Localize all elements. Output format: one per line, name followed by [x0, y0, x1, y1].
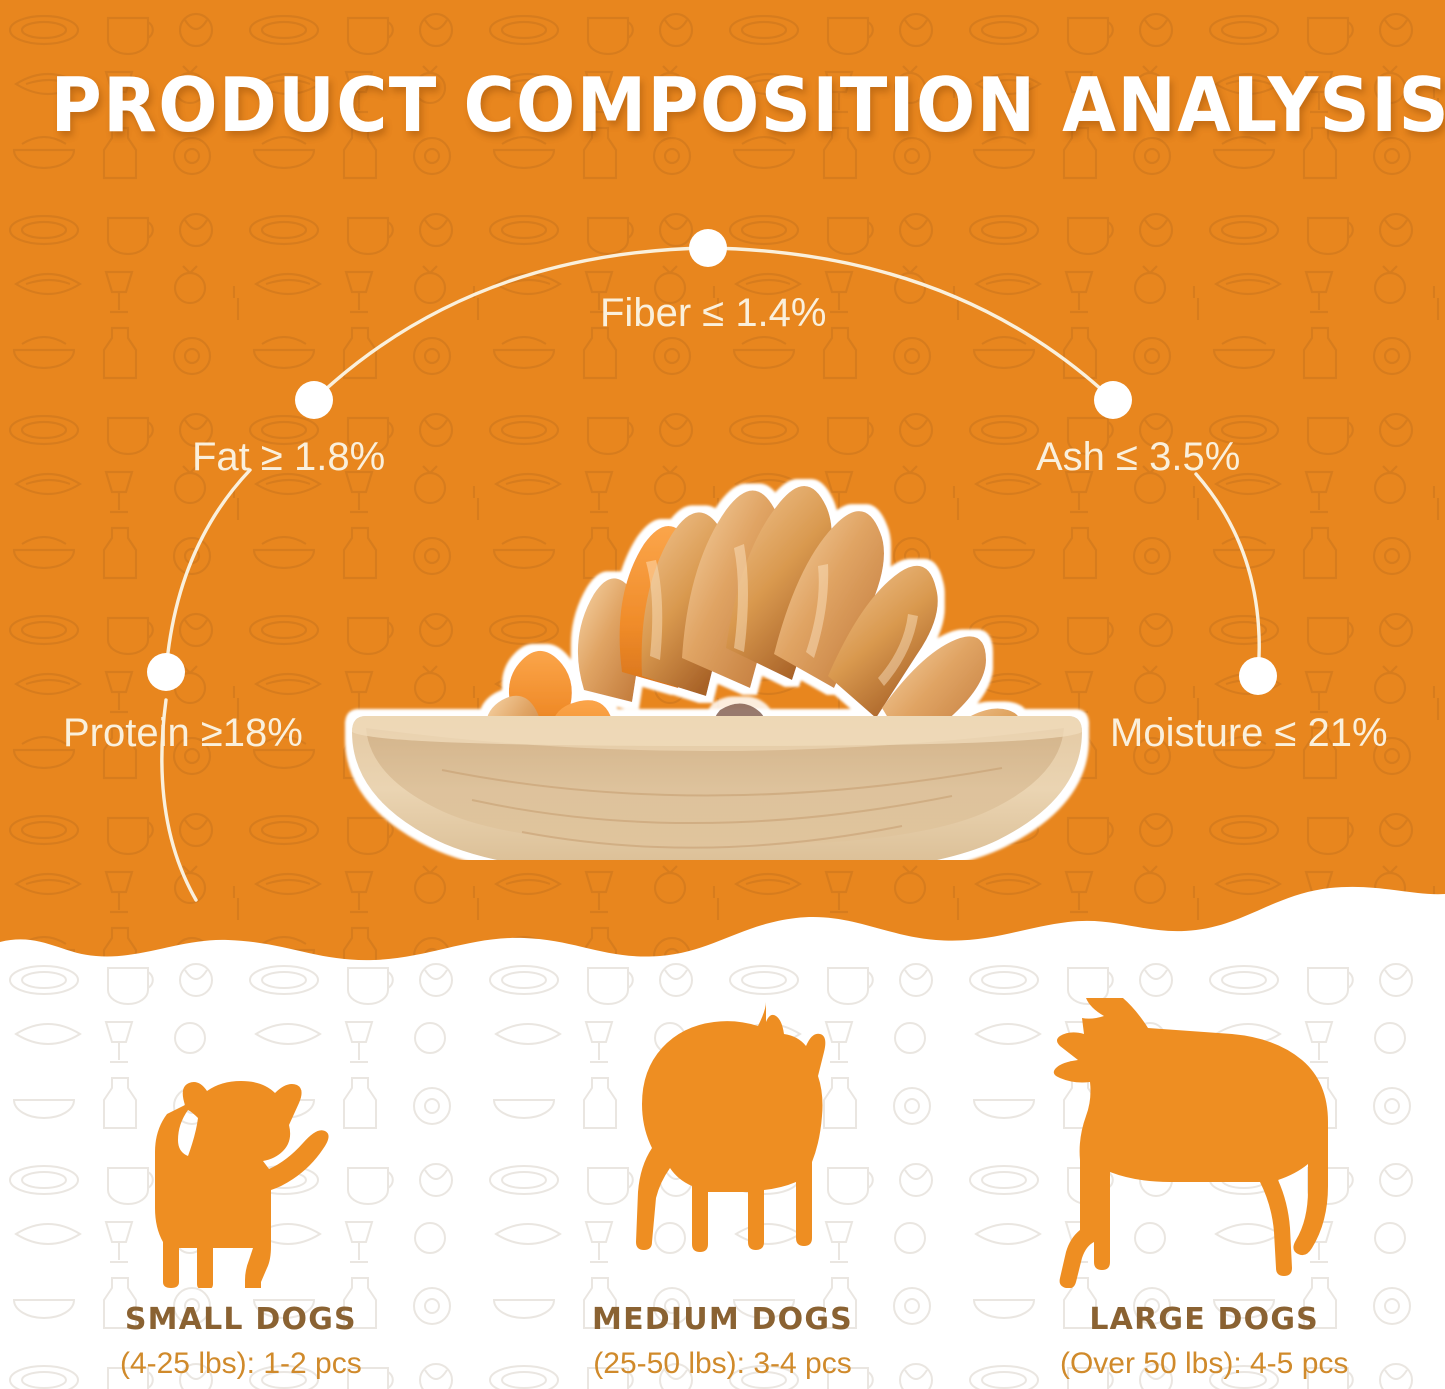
feeding-guide-detail-small: (4-25 lbs): 1-2 pcs	[120, 1347, 362, 1381]
large-dog-silhouette	[1044, 988, 1364, 1288]
connector-protein-fat	[166, 470, 250, 672]
feeding-guide-column-medium: MEDIUM DOGS (25-50 lbs): 3-4 pcs	[482, 965, 964, 1389]
feeding-guide-section: SMALL DOGS (4-25 lbs): 1-2 pcs MEDIUM DO…	[0, 965, 1445, 1389]
feeding-guide-column-small: SMALL DOGS (4-25 lbs): 1-2 pcs	[0, 965, 482, 1389]
small-dog-silhouette	[126, 988, 356, 1288]
feeding-guide-title-medium: MEDIUM DOGS	[592, 1302, 853, 1337]
infographic-page: PRODUCT COMPOSITION ANALYSIS Fat ≥ 1.8% …	[0, 0, 1445, 1389]
connector-ash-moisture	[1196, 474, 1259, 676]
feeding-guide-detail-large: (Over 50 lbs): 4-5 pcs	[1060, 1347, 1348, 1381]
dot-moisture	[1239, 657, 1277, 695]
callout-label-moisture: Moisture ≤ 21%	[1110, 713, 1388, 753]
callout-label-protein: Protein ≥18%	[63, 713, 303, 753]
feeding-guide-detail-medium: (25-50 lbs): 3-4 pcs	[593, 1347, 851, 1381]
dot-protein	[147, 653, 185, 691]
dot-fiber	[689, 229, 727, 267]
dot-ash	[1094, 381, 1132, 419]
product-photo-bowl-of-treats	[322, 440, 1112, 860]
orange-background-panel: PRODUCT COMPOSITION ANALYSIS Fat ≥ 1.8% …	[0, 0, 1445, 985]
callout-label-fiber: Fiber ≤ 1.4%	[600, 293, 826, 333]
medium-dog-silhouette	[598, 988, 848, 1288]
dot-fat	[295, 381, 333, 419]
feeding-guide-title-small: SMALL DOGS	[125, 1302, 357, 1337]
feeding-guide-column-large: LARGE DOGS (Over 50 lbs): 4-5 pcs	[963, 965, 1445, 1389]
feeding-guide-title-large: LARGE DOGS	[1089, 1302, 1319, 1337]
